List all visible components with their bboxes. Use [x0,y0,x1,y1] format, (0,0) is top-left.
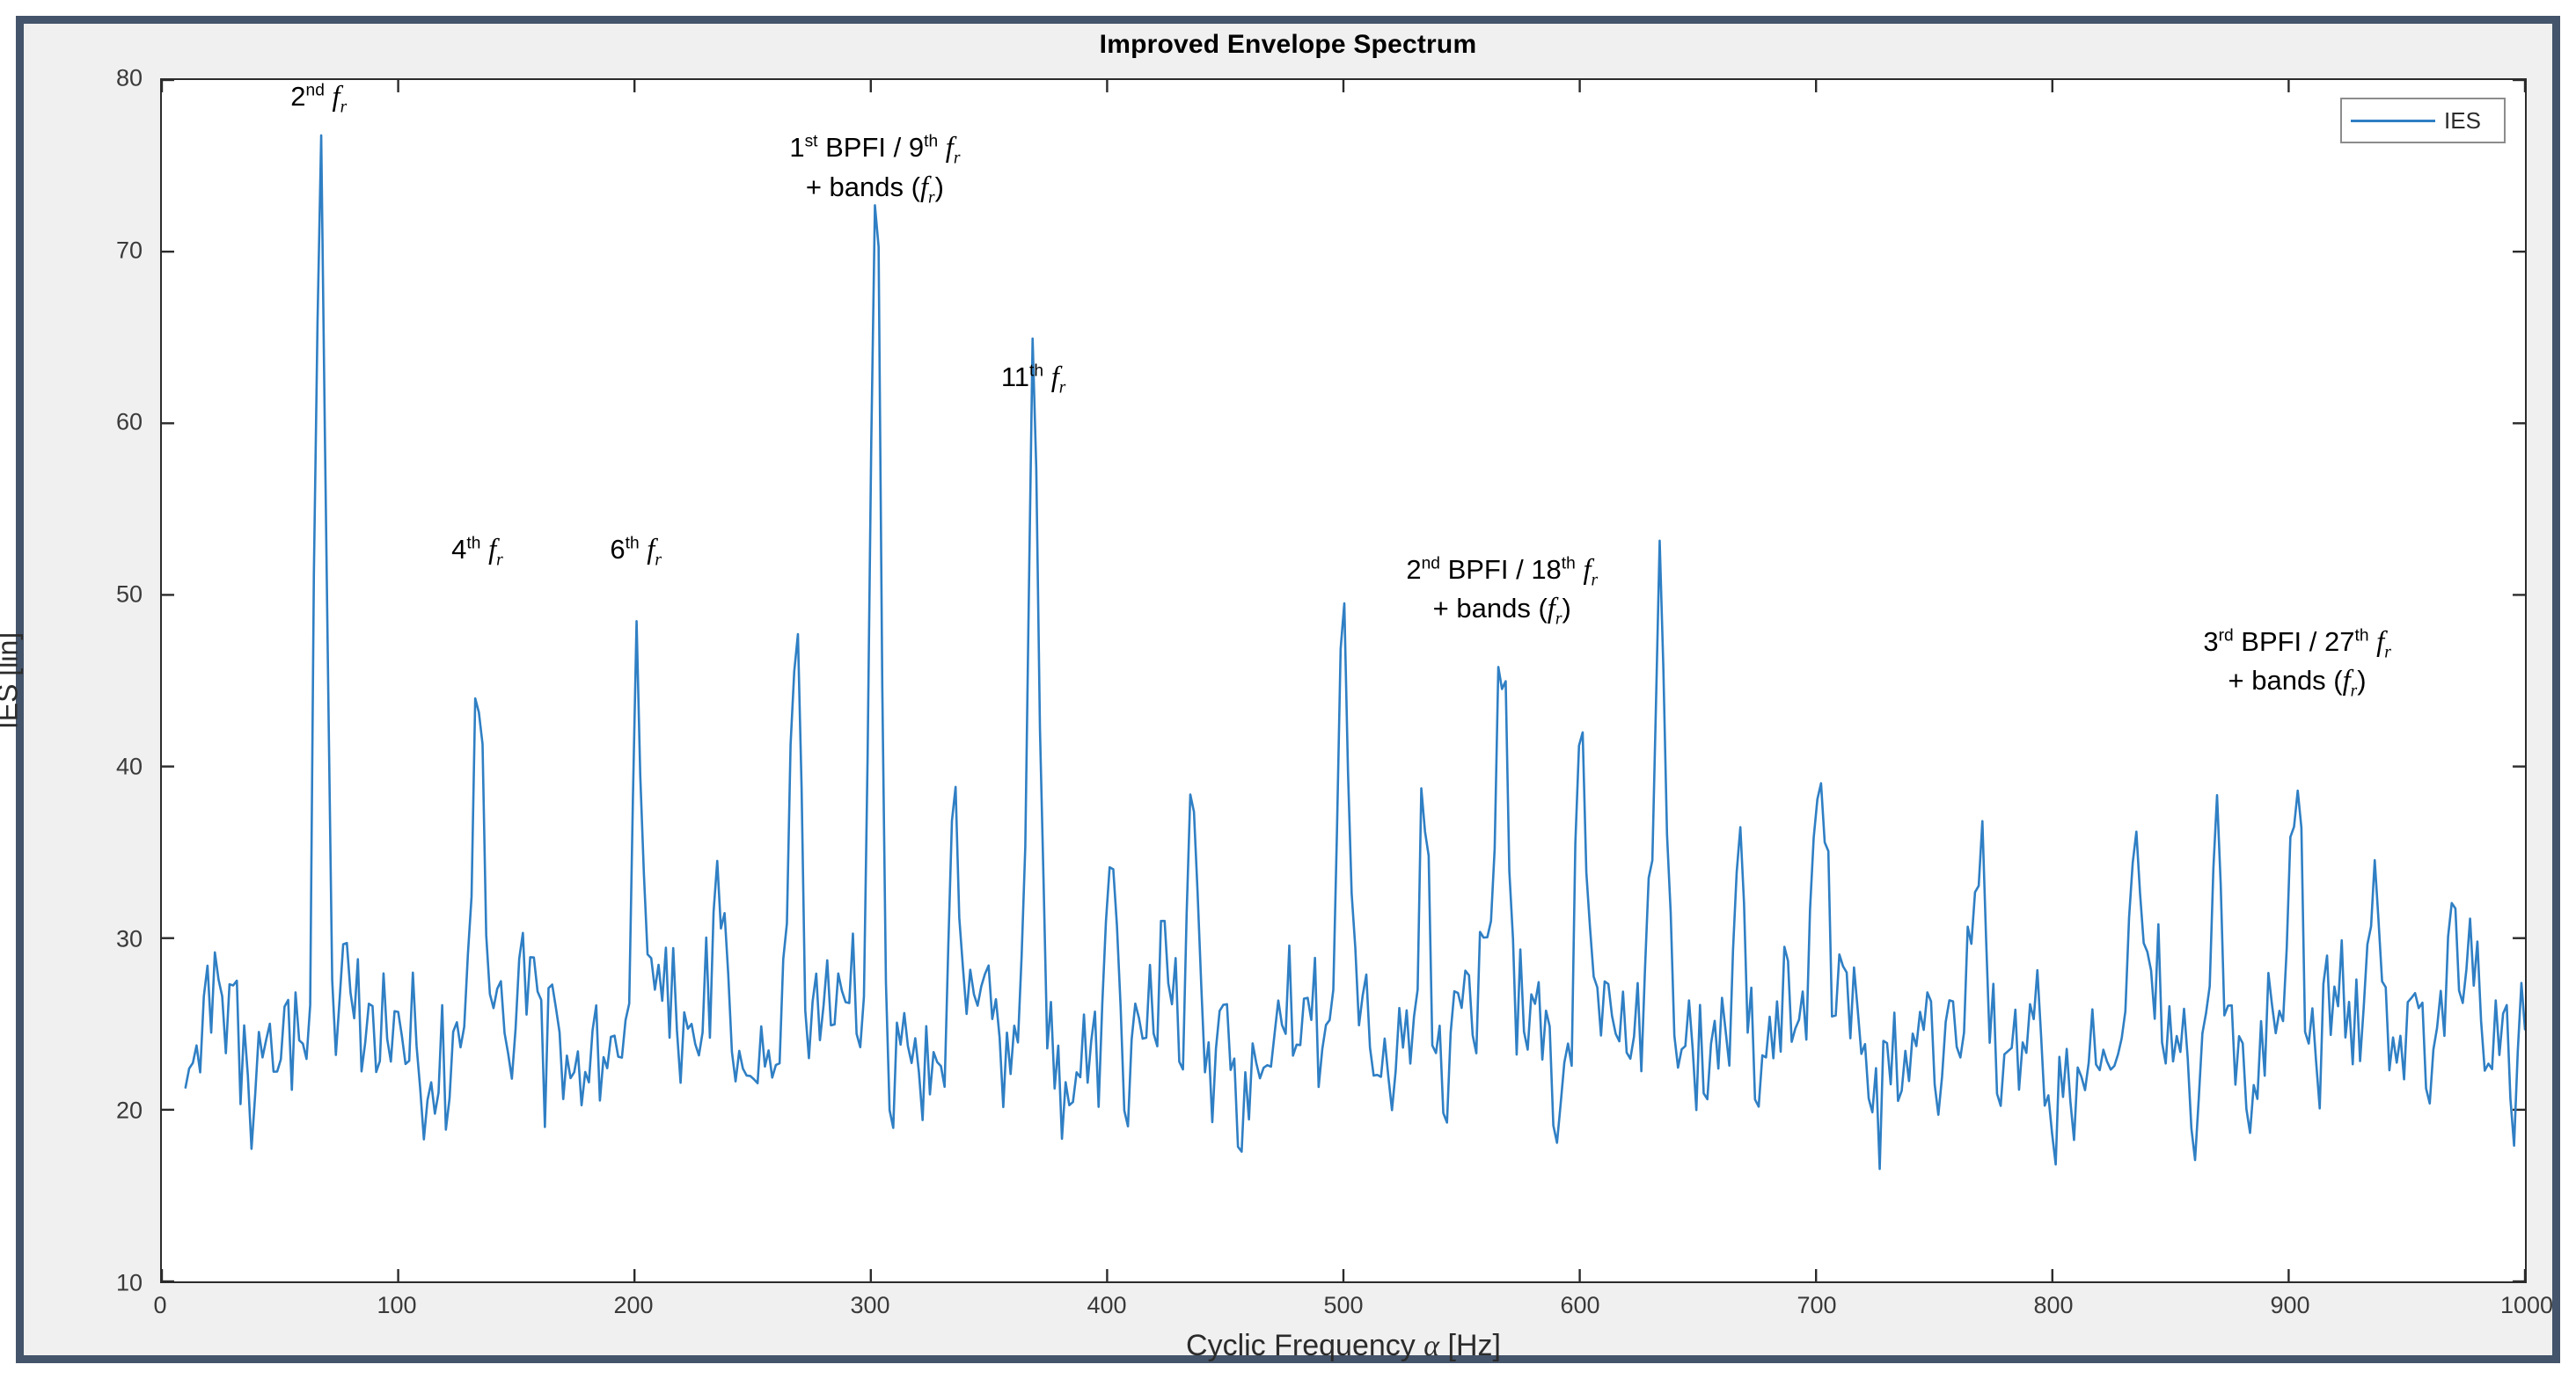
y-tick-label-20: 20 [63,1098,143,1125]
figure-frame: Improved Envelope Spectrum IES 807060504… [16,16,2560,1363]
y-tick-label-60: 60 [63,409,143,436]
figure-inner: Improved Envelope Spectrum IES 807060504… [24,24,2552,1355]
x-tick-label-0: 0 [153,1292,166,1319]
y-tick-label-30: 30 [63,925,143,952]
y-axis-label: IES [lin] [0,632,25,729]
x-tick-label-300: 300 [850,1292,889,1319]
ies-series-line [186,135,2525,1169]
screenshot-root: Improved Envelope Spectrum IES 807060504… [0,0,2576,1379]
y-tick-label-40: 40 [63,753,143,780]
x-tick-label-600: 600 [1560,1292,1599,1319]
x-tick-label-800: 800 [2033,1292,2073,1319]
plot-area: IES [160,78,2527,1283]
x-tick-label-500: 500 [1323,1292,1363,1319]
x-tick-label-700: 700 [1797,1292,1836,1319]
page-title: Improved Envelope Spectrum [24,30,2552,60]
x-tick-label-200: 200 [613,1292,653,1319]
y-tick-label-80: 80 [63,65,143,92]
y-tick-label-50: 50 [63,581,143,609]
axis-ticks [162,80,2525,1281]
legend-line-swatch [2351,120,2435,122]
spectrum-svg [162,80,2525,1281]
x-tick-label-900: 900 [2270,1292,2309,1319]
legend-label-ies: IES [2444,107,2481,135]
x-axis-label: Cyclic Frequency α [Hz] [1186,1329,1501,1363]
y-tick-label-70: 70 [63,237,143,264]
y-tick-label-10: 10 [63,1270,143,1297]
legend[interactable]: IES [2340,98,2506,143]
x-tick-label-100: 100 [377,1292,416,1319]
x-tick-label-1000: 1000 [2500,1292,2553,1319]
x-tick-label-400: 400 [1087,1292,1126,1319]
